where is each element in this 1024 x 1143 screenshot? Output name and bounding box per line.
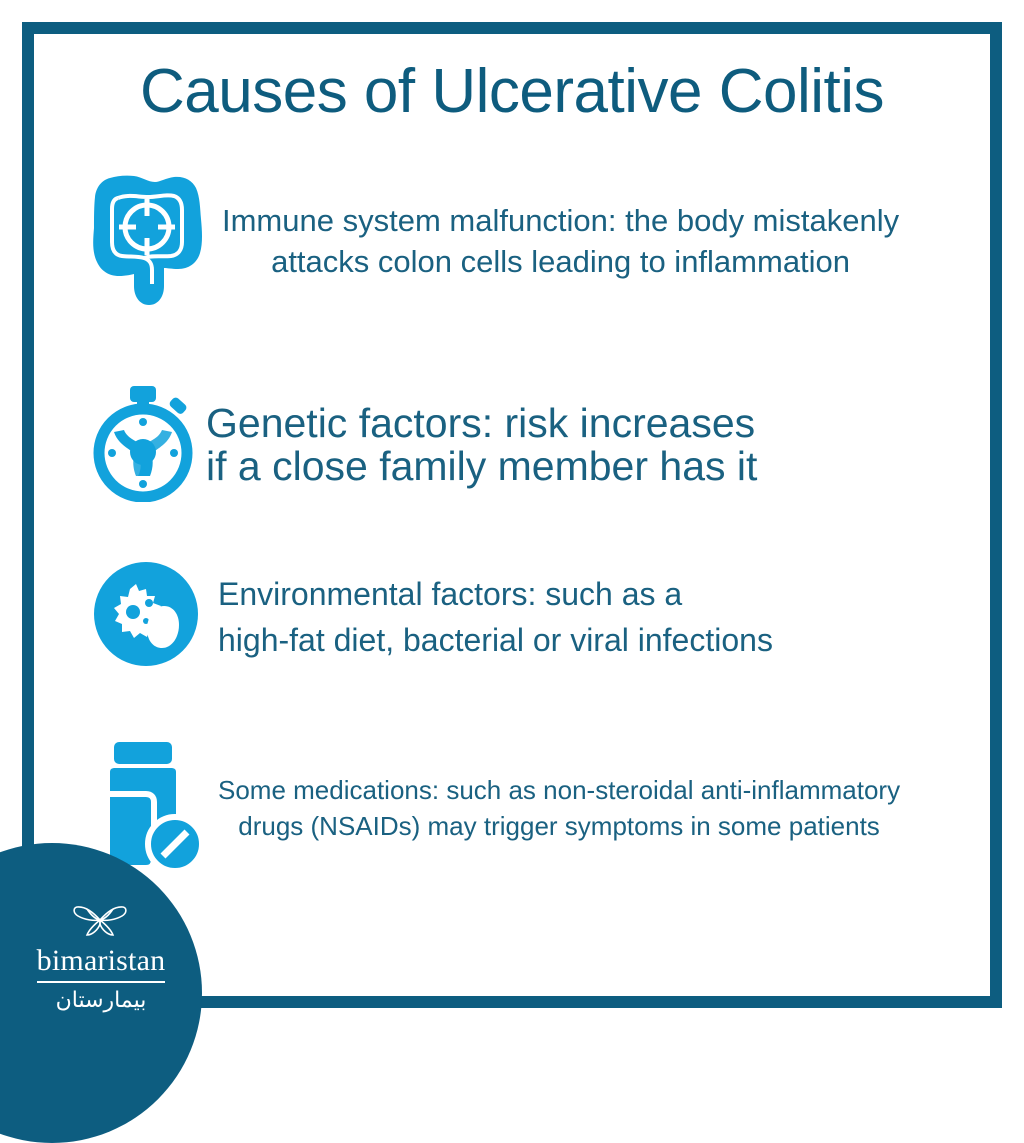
brand-logo-badge: bimaristan بيمارستان [0,843,202,1143]
cause-line-2: attacks colon cells leading to inflammat… [222,241,899,282]
cause-item-medication: Some medications: such as non-steroidal … [96,738,996,877]
brand-wordmark: bimaristan [37,944,166,983]
cause-text-medication: Some medications: such as non-steroidal … [218,772,900,844]
cause-item-environment: Environmental factors: such as a high-fa… [92,560,992,673]
infographic-canvas: Causes of Ulcerative Colitis Immune syst… [0,0,1024,1024]
cause-item-immune: Immune system malfunction: the body mist… [88,168,988,313]
cause-line-1: Genetic factors: risk increases [206,402,757,445]
cause-text-immune: Immune system malfunction: the body mist… [222,200,899,282]
page-title: Causes of Ulcerative Colitis [0,56,1024,128]
cause-line-2: if a close family member has it [206,445,757,488]
cause-text-environment: Environmental factors: such as a high-fa… [218,571,773,663]
brand-wordmark-arabic: بيمارستان [56,988,147,1014]
cause-item-genetic: Genetic factors: risk increases if a clo… [92,382,992,507]
cause-line-1: Environmental factors: such as a [218,571,773,617]
cause-line-2: drugs (NSAIDs) may trigger symptoms in s… [218,808,900,844]
cause-line-2: high-fat diet, bacterial or viral infect… [218,617,773,663]
cause-text-genetic: Genetic factors: risk increases if a clo… [206,402,757,488]
cause-line-1: Some medications: such as non-steroidal … [218,772,900,808]
stopwatch-dna-icon [92,382,204,507]
cause-line-1: Immune system malfunction: the body mist… [222,200,899,241]
colon-target-icon [88,168,206,313]
leaf-butterfly-icon [67,899,135,942]
brand-logo-content: bimaristan بيمارستان [0,843,202,1024]
bacteria-circle-icon [92,560,200,673]
